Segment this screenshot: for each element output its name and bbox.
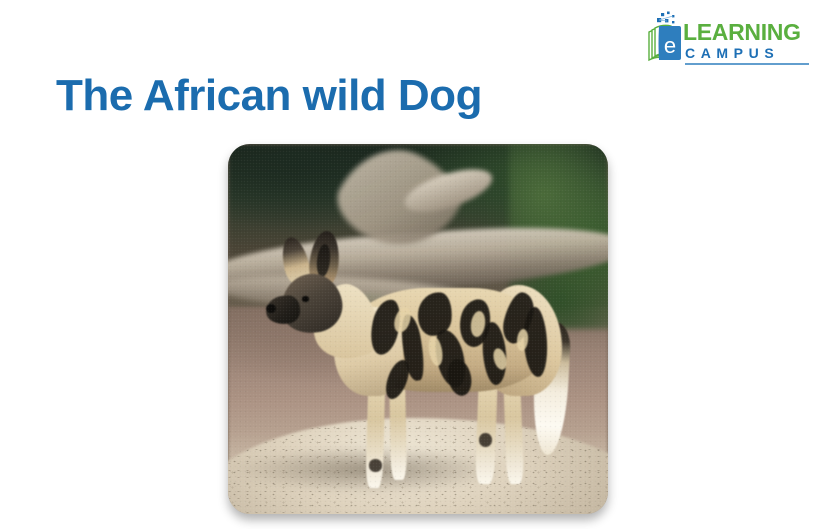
dog-eye: [302, 296, 308, 301]
logo-campus-text: CAMPUS: [685, 45, 811, 61]
elearning-campus-logo[interactable]: e LEARNING CAMPUS: [645, 8, 813, 72]
dog-foot-marking-front: [369, 459, 383, 472]
photo-content: [228, 144, 608, 514]
logo-learning-text: LEARNING: [683, 21, 811, 44]
african-wild-dog: [228, 144, 608, 514]
slide-canvas: e LEARNING CAMPUS The African wild Dog: [0, 0, 828, 529]
logo-wordmark: LEARNING CAMPUS: [683, 21, 811, 61]
wild-dog-photo: [228, 144, 608, 514]
logo-underline: [685, 63, 809, 65]
dog-nose: [266, 304, 276, 313]
dog-figure: [228, 144, 608, 514]
logo-letter-e: e: [664, 33, 676, 58]
page-title: The African wild Dog: [56, 70, 482, 122]
